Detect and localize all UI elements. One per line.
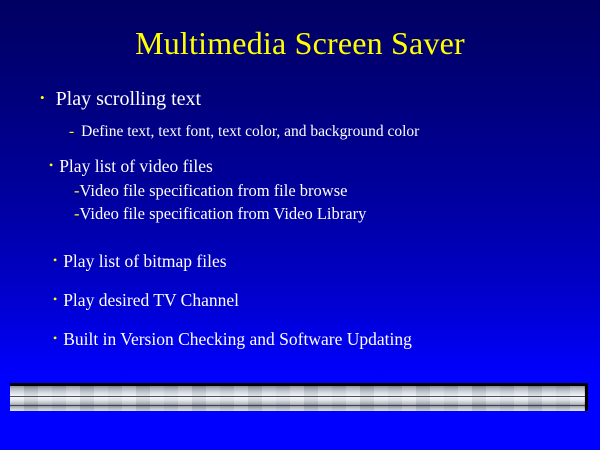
bullet-marker-icon: • bbox=[49, 159, 53, 172]
bullet-item-play-bitmap-files: •Play list of bitmap files bbox=[53, 252, 227, 270]
metal-band-top bbox=[10, 386, 585, 396]
bullet-item-label: Built in Version Checking and Software U… bbox=[63, 329, 412, 349]
sub-bullet-item-label: Video file specification from Video Libr… bbox=[80, 204, 367, 223]
sub-bullet-item-define-text: -Define text, text font, text color, and… bbox=[69, 124, 419, 140]
dash-marker-icon: - bbox=[69, 124, 74, 140]
presentation-slide: Multimedia Screen Saver •Play scrolling … bbox=[0, 0, 600, 450]
bullet-marker-icon: • bbox=[40, 91, 45, 105]
bullet-item-play-video-files: •Play list of video files bbox=[49, 157, 213, 175]
bullet-item-play-tv-channel: •Play desired TV Channel bbox=[53, 291, 239, 309]
bullet-item-play-scrolling-text: •Play scrolling text bbox=[40, 89, 201, 110]
bullet-item-label: Play scrolling text bbox=[56, 88, 202, 110]
bullet-item-version-checking: •Built in Version Checking and Software … bbox=[53, 330, 412, 348]
bullet-marker-icon: • bbox=[53, 254, 57, 267]
bullet-item-label: Play list of bitmap files bbox=[63, 251, 226, 271]
bullet-marker-icon: • bbox=[53, 332, 57, 345]
sub-bullet-item-label: Define text, text font, text color, and … bbox=[81, 123, 419, 140]
bullet-marker-icon: • bbox=[53, 293, 57, 306]
metal-band-middle bbox=[10, 397, 585, 405]
sub-bullet-item-video-file-browse: -Video file specification from file brow… bbox=[74, 182, 347, 199]
bullet-item-label: Play desired TV Channel bbox=[63, 290, 239, 310]
metallic-divider-bar bbox=[10, 383, 588, 411]
sub-bullet-item-label: Video file specification from file brows… bbox=[80, 181, 348, 200]
metal-band-bottom bbox=[10, 406, 585, 411]
slide-title: Multimedia Screen Saver bbox=[0, 24, 600, 62]
sub-bullet-item-video-library: -Video file specification from Video Lib… bbox=[74, 205, 366, 222]
bullet-item-label: Play list of video files bbox=[59, 156, 213, 176]
